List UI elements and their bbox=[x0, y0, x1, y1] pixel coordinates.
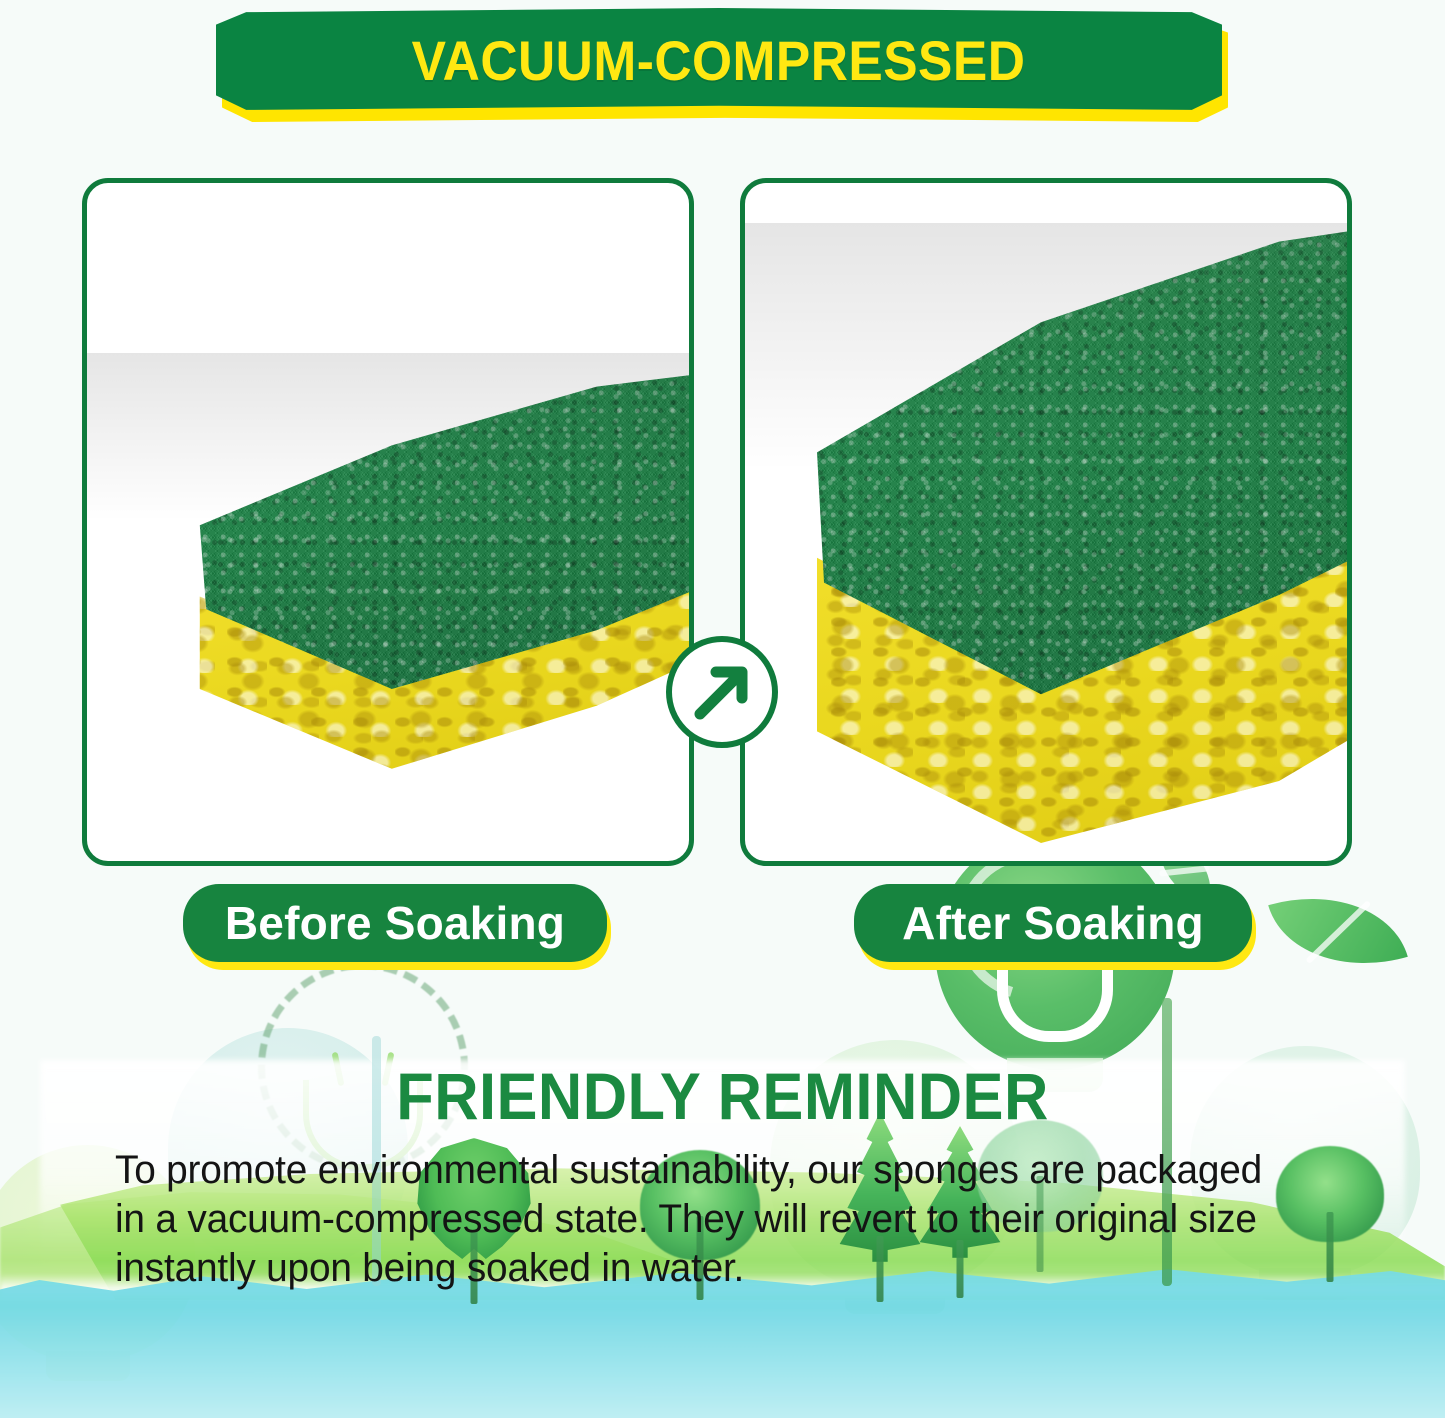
panel-before-soaking bbox=[82, 178, 694, 866]
sponge-edge-shade bbox=[740, 223, 1352, 843]
sponge-edge-shade bbox=[82, 353, 694, 773]
pill-label: Before Soaking bbox=[225, 896, 565, 950]
label-after-soaking: After Soaking bbox=[854, 884, 1252, 962]
arrow-up-right-icon bbox=[666, 636, 778, 748]
pill-body: Before Soaking bbox=[183, 884, 607, 962]
sponge-image-after bbox=[740, 223, 1352, 843]
banner-title: VACUUM-COMPRESSED bbox=[412, 28, 1026, 93]
panel-after-soaking bbox=[740, 178, 1352, 866]
arrow-glyph bbox=[688, 658, 756, 726]
reminder-body: To promote environmental sustainability,… bbox=[115, 1146, 1294, 1292]
leaf-icon bbox=[1268, 872, 1408, 990]
pill-label: After Soaking bbox=[902, 896, 1204, 950]
pill-body: After Soaking bbox=[854, 884, 1252, 962]
reminder-title: FRIENDLY REMINDER bbox=[51, 1058, 1395, 1134]
sponge-image-before bbox=[82, 353, 694, 773]
label-before-soaking: Before Soaking bbox=[183, 884, 607, 962]
vacuum-compressed-banner: VACUUM-COMPRESSED bbox=[216, 4, 1228, 124]
comparison-section bbox=[0, 170, 1445, 870]
banner-ribbon: VACUUM-COMPRESSED bbox=[216, 8, 1222, 112]
friendly-reminder-section: FRIENDLY REMINDER To promote environment… bbox=[0, 1058, 1445, 1292]
